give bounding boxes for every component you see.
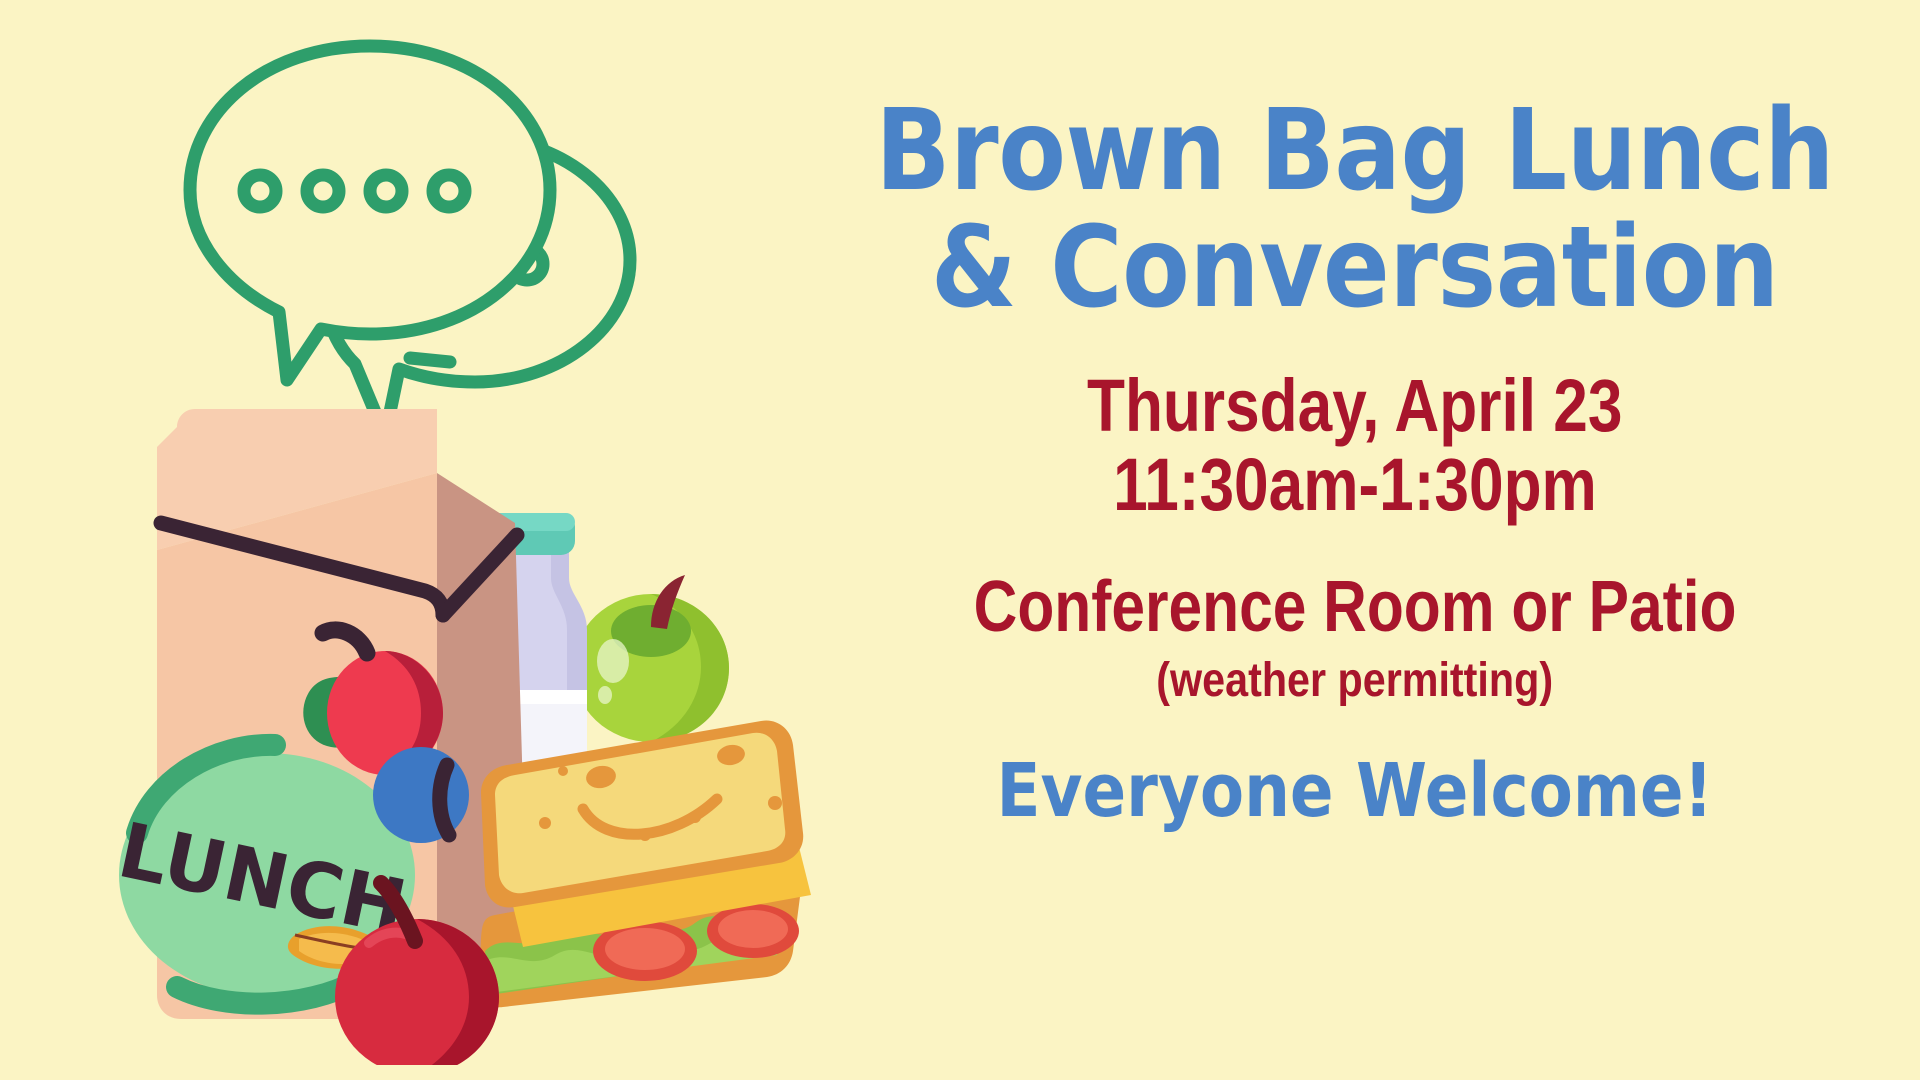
- speech-bubble-left: [190, 46, 550, 380]
- event-location-note: (weather permitting): [1157, 655, 1554, 708]
- bag-blueberry-sticker: [373, 747, 469, 843]
- speech-bubble-right-mouth: [410, 358, 450, 362]
- lunch-bag-and-food-icon: LUNCH: [85, 395, 845, 1065]
- poster-title-line-2: & Conversation: [931, 213, 1779, 324]
- event-date: Thursday, April 23: [1087, 368, 1622, 445]
- welcome-message: Everyone Welcome!: [997, 754, 1713, 828]
- sandwich: [479, 721, 811, 1008]
- poster-text-column: Brown Bag Lunch & Conversation Thursday,…: [790, 0, 1920, 1080]
- poster-title-line-1: Brown Bag Lunch: [876, 96, 1835, 207]
- green-apple: [573, 575, 729, 742]
- lunch-illustration: LUNCH: [85, 395, 845, 1065]
- event-time: 11:30am-1:30pm: [1113, 447, 1597, 524]
- poster-canvas: LUNCH: [0, 0, 1920, 1080]
- event-location: Conference Room or Patio: [974, 570, 1737, 646]
